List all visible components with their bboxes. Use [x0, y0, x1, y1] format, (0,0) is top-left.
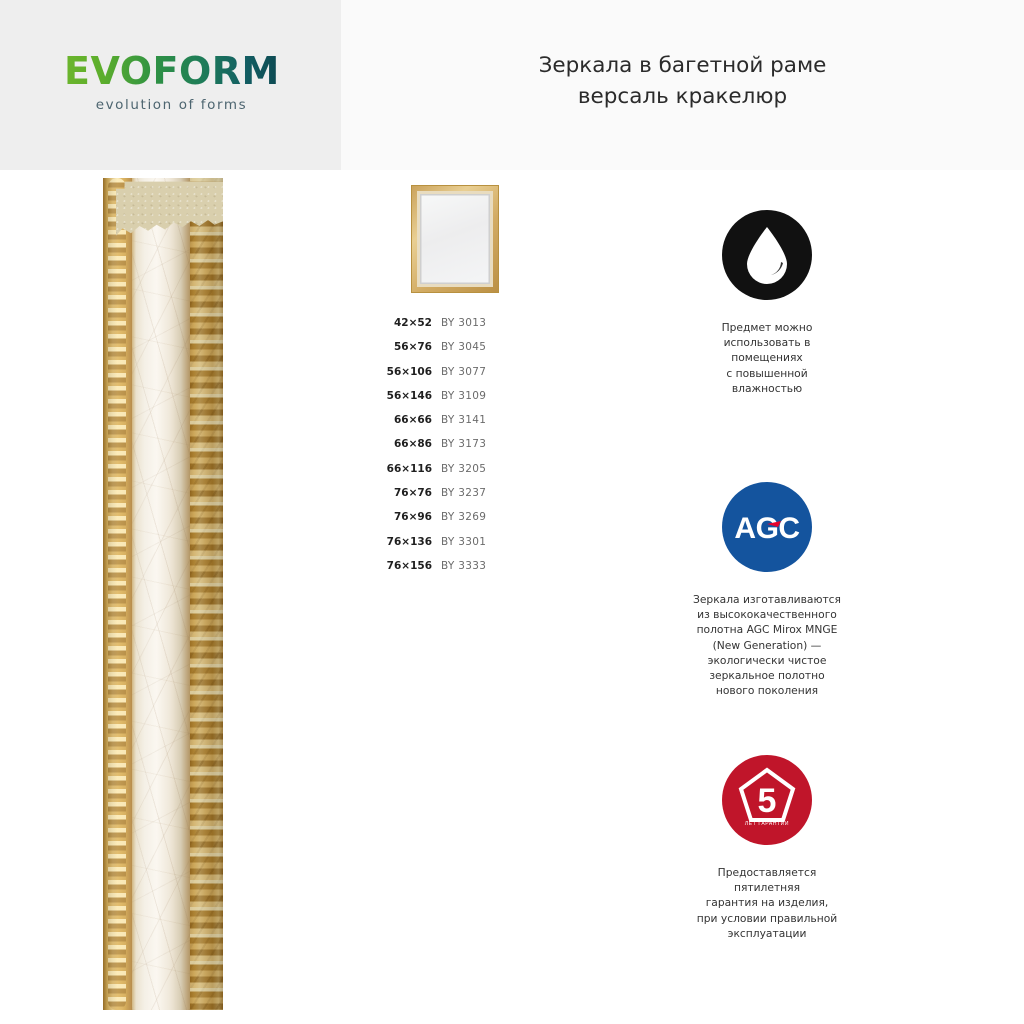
- agc-badge: AGC: [657, 462, 877, 592]
- mirror-glass: [420, 194, 490, 284]
- moulding-bead-band: [103, 178, 132, 1010]
- brand-logo-wordmark: EVOFORM: [64, 52, 279, 90]
- size-article-code: BY 3141: [441, 414, 486, 426]
- agc-logo-icon: AGC: [722, 482, 812, 572]
- crackle-texture: [132, 178, 190, 1010]
- table-row[interactable]: 42×52 BY 3013: [380, 317, 530, 341]
- moulding-profile-sample: [103, 178, 223, 1010]
- size-dimensions: 66×66: [380, 414, 441, 426]
- table-row[interactable]: 76×136 BY 3301: [380, 536, 530, 560]
- page-title-line-2: версаль кракелюр: [341, 81, 1024, 112]
- feature-warranty-text: Предоставляется пятилетняя гарантия на и…: [657, 865, 877, 941]
- mirror-frame-thumbnail[interactable]: [411, 185, 499, 293]
- size-article-code: BY 3045: [441, 341, 486, 353]
- size-dimensions: 56×76: [380, 341, 441, 353]
- humidity-badge: [657, 190, 877, 320]
- size-dimensions: 76×76: [380, 487, 441, 499]
- brand-logo-tagline: evolution of forms: [64, 97, 279, 113]
- warranty-badge: 5 ЛЕТ ГАРАНТИИ: [657, 735, 877, 865]
- size-article-code: BY 3173: [441, 438, 486, 450]
- page-header: EVOFORM evolution of forms Зеркала в баг…: [0, 0, 1024, 170]
- moulding-bead-pattern: [108, 178, 126, 1010]
- size-dimensions: 76×156: [380, 560, 441, 572]
- feature-agc-text: Зеркала изготавливаются из высококачеств…: [657, 592, 877, 698]
- warranty-5-years-icon: 5 ЛЕТ ГАРАНТИИ: [722, 755, 812, 845]
- size-dimensions: 56×106: [380, 366, 441, 378]
- feature-agc: AGC Зеркала изготавливаются из высококач…: [657, 462, 877, 698]
- size-dimensions: 66×116: [380, 463, 441, 475]
- size-code-table: 42×52 BY 3013 56×76 BY 3045 56×106 BY 30…: [380, 317, 530, 584]
- size-article-code: BY 3077: [441, 366, 486, 378]
- size-dimensions: 76×96: [380, 511, 441, 523]
- table-row[interactable]: 76×156 BY 3333: [380, 560, 530, 584]
- brand-logo[interactable]: EVOFORM evolution of forms: [64, 52, 279, 113]
- moulding-crackle-panel: [132, 178, 190, 1010]
- moulding-ornament-band: [190, 178, 223, 1010]
- feature-humidity-text: Предмет можно использовать в помещениях …: [657, 320, 877, 396]
- size-dimensions: 42×52: [380, 317, 441, 329]
- size-article-code: BY 3237: [441, 487, 486, 499]
- page-title-line-1: Зеркала в багетной раме: [341, 50, 1024, 81]
- size-dimensions: 76×136: [380, 536, 441, 548]
- size-article-code: BY 3333: [441, 560, 486, 572]
- size-article-code: BY 3269: [441, 511, 486, 523]
- size-article-code: BY 3205: [441, 463, 486, 475]
- table-row[interactable]: 66×66 BY 3141: [380, 414, 530, 438]
- product-sizes-column: 42×52 BY 3013 56×76 BY 3045 56×106 BY 30…: [380, 185, 530, 584]
- feature-humidity: Предмет можно использовать в помещениях …: [657, 190, 877, 396]
- ornament-pattern: [190, 178, 223, 1010]
- table-row[interactable]: 56×76 BY 3045: [380, 341, 530, 365]
- table-row[interactable]: 76×96 BY 3269: [380, 511, 530, 535]
- svg-text:ЛЕТ ГАРАНТИИ: ЛЕТ ГАРАНТИИ: [745, 821, 789, 827]
- page-title: Зеркала в багетной раме версаль кракелюр: [341, 50, 1024, 112]
- catalog-page: EVOFORM evolution of forms Зеркала в баг…: [0, 0, 1024, 1024]
- water-drop-icon: [722, 210, 812, 300]
- table-row[interactable]: 56×146 BY 3109: [380, 390, 530, 414]
- size-article-code: BY 3013: [441, 317, 486, 329]
- table-row[interactable]: 76×76 BY 3237: [380, 487, 530, 511]
- feature-warranty: 5 ЛЕТ ГАРАНТИИ Предоставляется пятилетня…: [657, 735, 877, 941]
- table-row[interactable]: 56×106 BY 3077: [380, 366, 530, 390]
- svg-text:AGC: AGC: [734, 512, 799, 545]
- size-dimensions: 56×146: [380, 390, 441, 402]
- svg-text:5: 5: [758, 782, 777, 820]
- table-row[interactable]: 66×116 BY 3205: [380, 463, 530, 487]
- table-row[interactable]: 66×86 BY 3173: [380, 438, 530, 462]
- size-dimensions: 66×86: [380, 438, 441, 450]
- size-article-code: BY 3301: [441, 536, 486, 548]
- size-article-code: BY 3109: [441, 390, 486, 402]
